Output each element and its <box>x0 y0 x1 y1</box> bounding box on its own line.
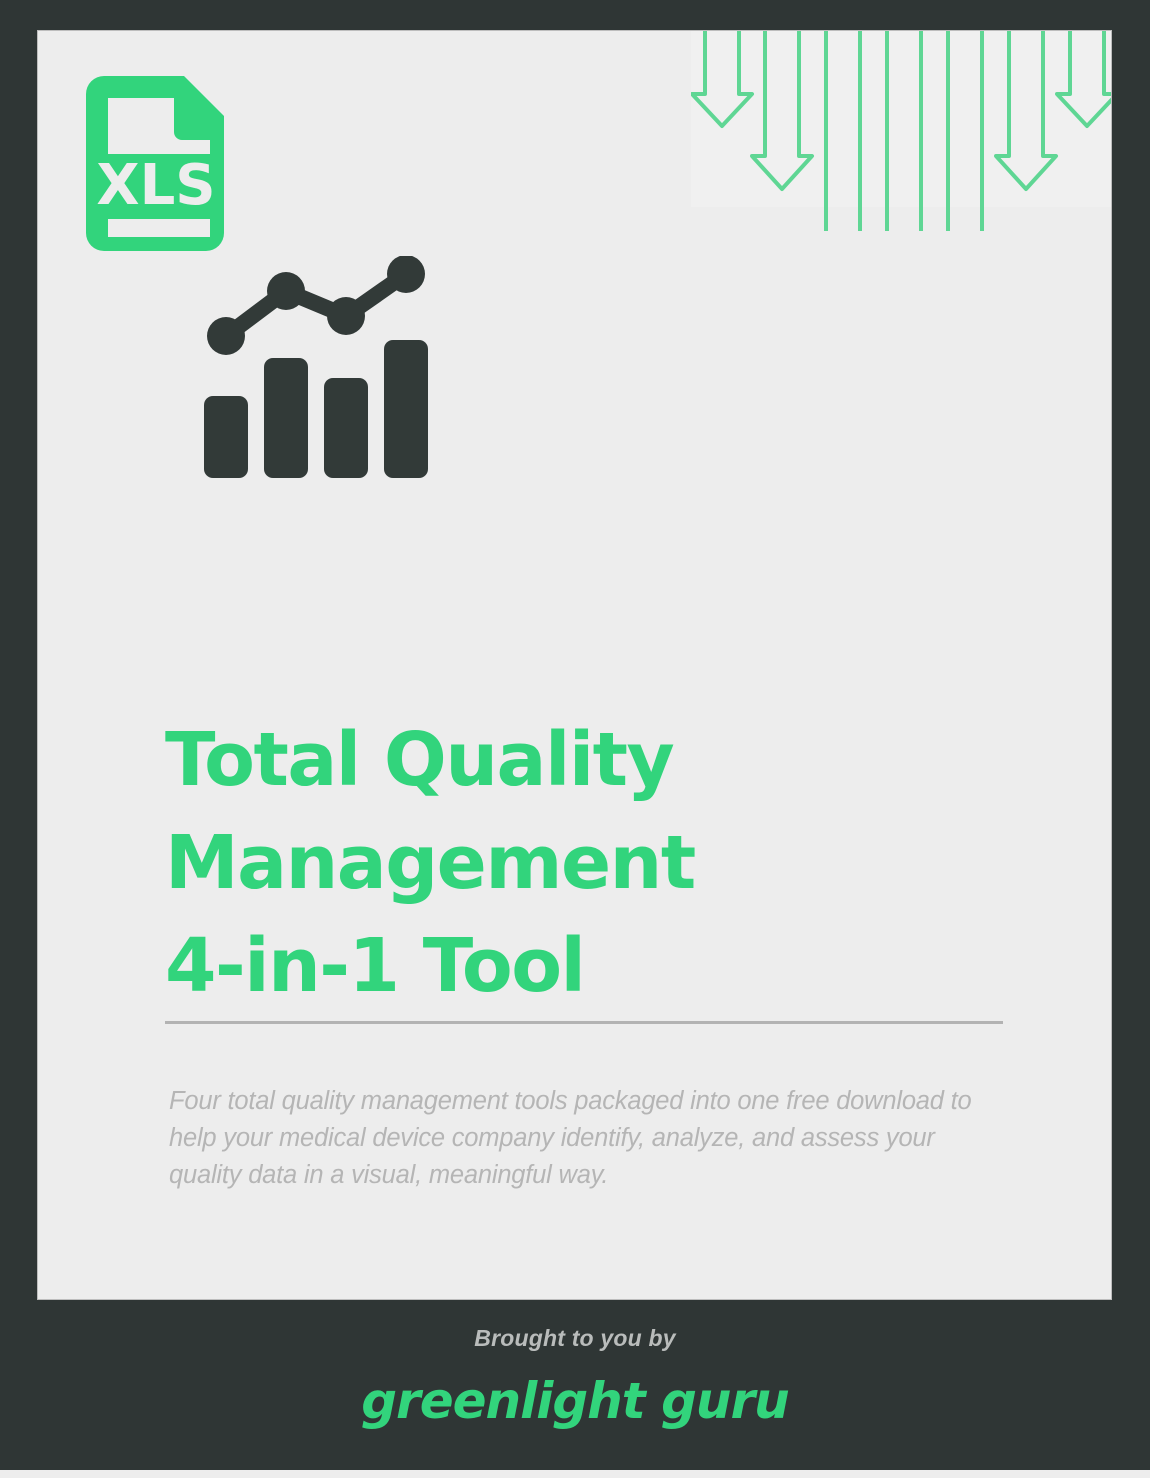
icon-cluster: XLS <box>86 76 436 496</box>
bar-chart-line-icon <box>196 256 436 486</box>
xls-file-icon: XLS <box>86 76 231 251</box>
cover-footer: Brought to you by greenlight guru <box>0 1300 1150 1470</box>
downward-arrows-decoration <box>691 31 1111 231</box>
cover-title: Total Quality Management 4-in-1 Tool <box>165 709 1025 1018</box>
cover-title-line-1: Total Quality <box>165 709 1025 812</box>
cover-description: Four total quality management tools pack… <box>169 1083 999 1194</box>
cover-title-line-2: Management <box>165 812 1025 915</box>
ebook-cover: XLS <box>0 0 1150 1478</box>
greenlight-guru-logo: greenlight guru <box>0 1372 1150 1430</box>
svg-text:XLS: XLS <box>96 153 215 218</box>
title-divider <box>165 1021 1003 1024</box>
cover-title-line-3: 4-in-1 Tool <box>165 915 1025 1018</box>
brought-to-you-by-label: Brought to you by <box>0 1325 1150 1352</box>
cover-inner-panel: XLS <box>37 30 1112 1300</box>
